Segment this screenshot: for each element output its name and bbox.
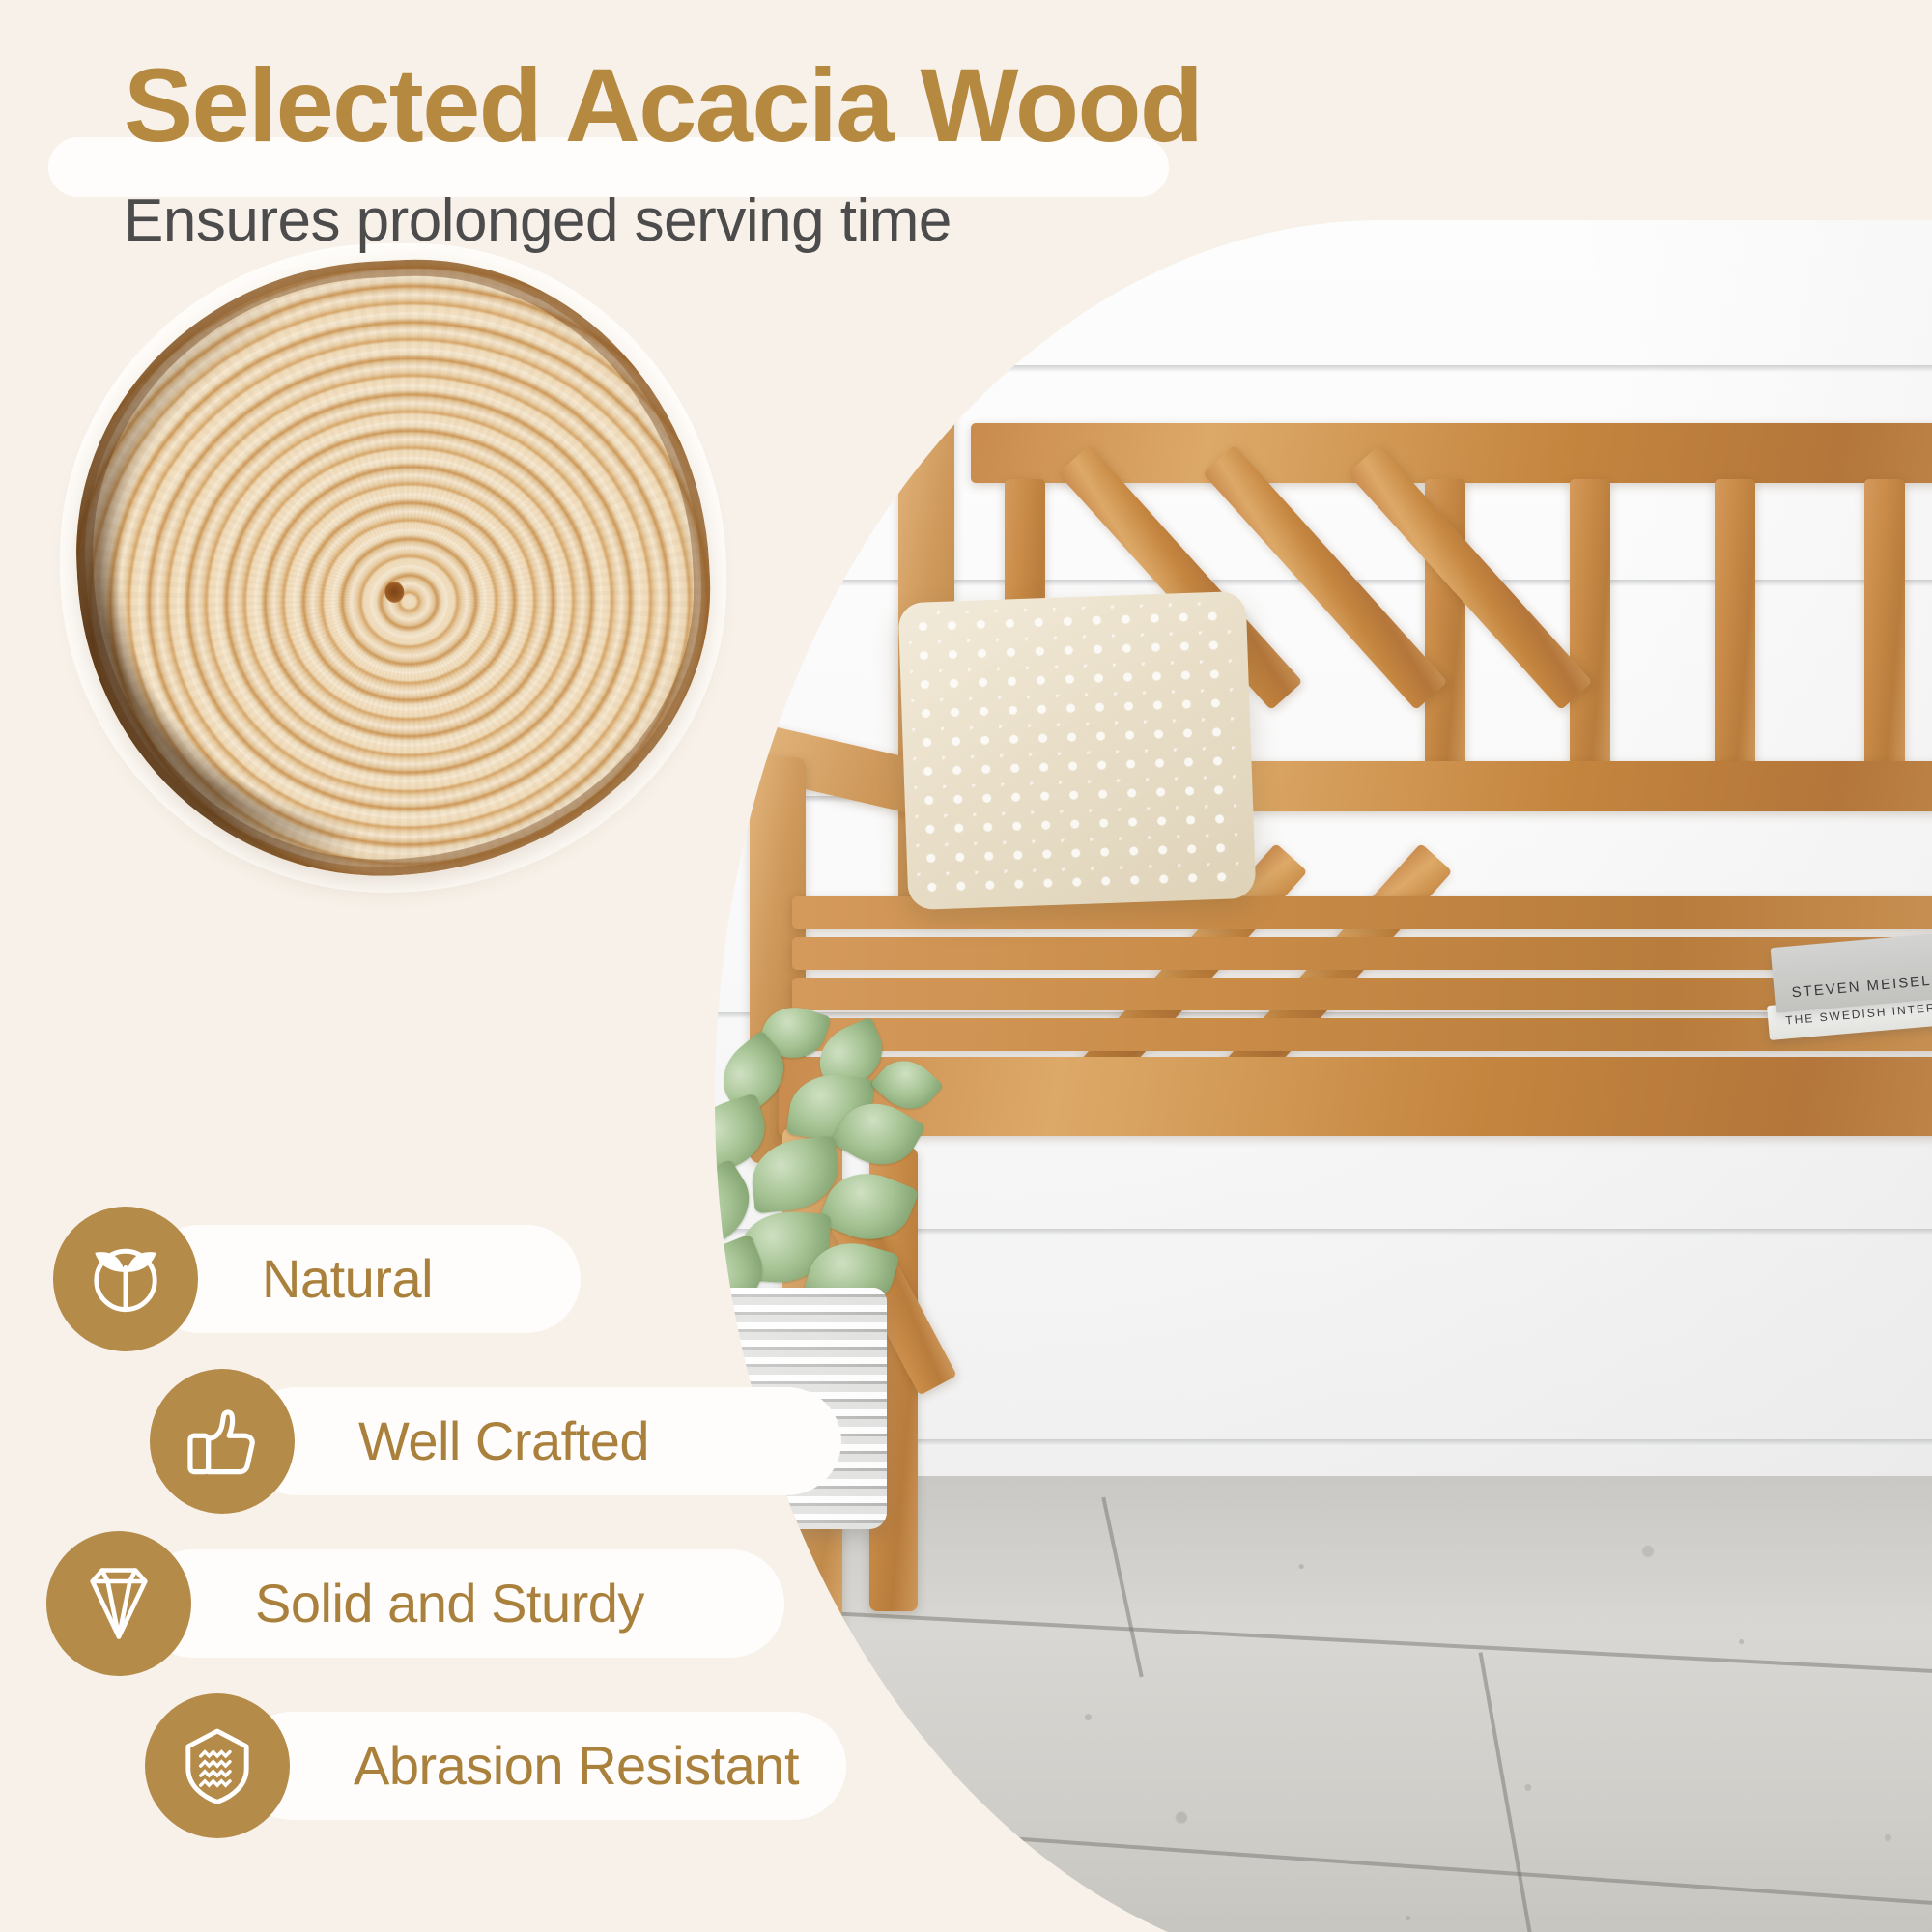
bench-back-slat [1864,479,1905,769]
wood-slice-figure [60,243,726,893]
wood-cross-section-image [62,244,724,891]
sprout-icon [53,1207,198,1351]
feature-label: Solid and Sturdy [255,1577,644,1631]
thumbs-up-icon [150,1369,295,1514]
feature-item-abrasion-resistant: Abrasion Resistant [145,1685,290,1847]
diamond-icon [46,1531,191,1676]
page-title: Selected Acacia Wood [124,50,1202,159]
feature-label: Abrasion Resistant [354,1739,799,1793]
bench-back-slat [1715,479,1755,769]
feature-item-solid-sturdy: Solid and Sturdy [46,1522,191,1685]
feature-list: Natural Well Crafted [0,1198,966,1874]
page-subtitle: Ensures prolonged serving time [124,188,952,254]
header: Selected Acacia Wood Ensures prolonged s… [0,0,1932,290]
product-feature-banner: THE SWEDISH INTERIOR DE STEVEN MEISEL [0,0,1932,1932]
pillow-knit-texture [908,601,1246,900]
feature-item-well-crafted: Well Crafted [150,1360,295,1522]
feature-item-natural: Natural [53,1198,198,1360]
bench-back-slat [1570,479,1610,769]
feature-label: Well Crafted [358,1414,649,1468]
book-spine-title-1: STEVEN MEISEL [1791,973,1932,1002]
shield-waves-icon [145,1693,290,1838]
bench-seat-slat [792,937,1932,970]
macrame-pillow [898,591,1257,910]
feature-label: Natural [262,1252,433,1306]
